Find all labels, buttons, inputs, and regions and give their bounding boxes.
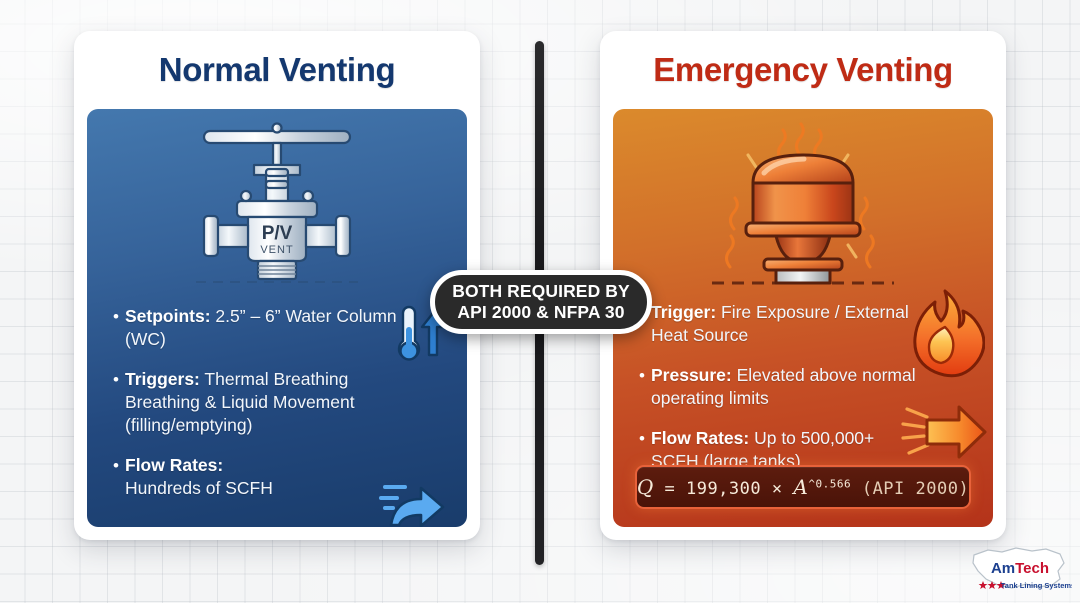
logo-am: Am [991, 560, 1015, 577]
logo-tech: Tech [1015, 560, 1049, 577]
bullet-label: Triggers: [125, 369, 200, 389]
bullet-text: Triggers: Thermal Breathing Breathing & … [125, 368, 425, 437]
bullet-dot: • [113, 305, 125, 328]
pressure-arrow-icon [901, 397, 987, 472]
emergency-venting-card: Emergency Venting [600, 31, 1006, 540]
pv-valve-illustration: P/V VENT [87, 117, 467, 289]
api-formula-text: Q = 199,300 × A^0.566 (API 2000) [637, 475, 969, 499]
emergency-venting-panel: • Trigger: Fire Exposure / External Heat… [613, 109, 993, 527]
logo-tagline: Tank Lining Systems [1001, 581, 1072, 590]
bullet-text: Flow Rates: Hundreds of SCFH [125, 454, 273, 500]
badge-line-2: API 2000 & NFPA 30 [457, 302, 624, 323]
formula-coefficient: 199,300 [686, 479, 761, 499]
list-item: • Triggers: Thermal Breathing Breathing … [113, 368, 451, 437]
formula-times: × [772, 479, 783, 499]
normal-venting-card: Normal Venting [74, 31, 480, 540]
bullet-dot: • [113, 454, 125, 477]
flow-arrow-icon [379, 477, 449, 527]
formula-area: A [793, 475, 808, 499]
formula-equals: = [664, 479, 675, 499]
bullet-label: Setpoints: [125, 306, 211, 326]
status-badge: BOTH REQUIRED BY API 2000 & NFPA 30 [430, 270, 652, 334]
badge-line-1: BOTH REQUIRED BY [452, 281, 630, 302]
emergency-vent-illustration [613, 117, 993, 289]
flame-icon [901, 287, 985, 384]
bullet-label: Pressure: [651, 365, 732, 385]
logo-wordmark: AmTech [991, 560, 1049, 577]
bullet-label: Flow Rates: [125, 455, 223, 475]
pv-label-secondary: VENT [260, 244, 293, 256]
bullet-label: Trigger: [651, 302, 716, 322]
bullet-text: Trigger: Fire Exposure / External Heat S… [651, 301, 919, 347]
bullet-dot: • [639, 427, 651, 450]
api-formula-box: Q = 199,300 × A^0.566 (API 2000) [635, 465, 971, 509]
formula-standard: (API 2000) [862, 479, 969, 499]
bullet-label: Flow Rates: [651, 428, 749, 448]
bullet-text: Setpoints: 2.5” – 6” Water Column (WC) [125, 305, 425, 351]
pv-label-primary: P/V [262, 223, 293, 244]
amtech-logo: AmTech Tank Lining Systems [968, 541, 1072, 597]
bullet-body: Hundreds of SCFH [125, 478, 273, 498]
formula-exponent: ^0.566 [808, 477, 851, 490]
emergency-venting-title: Emergency Venting [600, 51, 1006, 89]
bullet-dot: • [639, 364, 651, 387]
normal-venting-panel: P/V VENT • Setpoints: 2.5” – 6” Water Co… [87, 109, 467, 527]
normal-venting-title: Normal Venting [74, 51, 480, 89]
formula-q: Q [637, 475, 654, 499]
bullet-text: Pressure: Elevated above normal operatin… [651, 364, 919, 410]
infographic-canvas: Normal Venting [0, 0, 1080, 603]
bullet-dot: • [113, 368, 125, 391]
